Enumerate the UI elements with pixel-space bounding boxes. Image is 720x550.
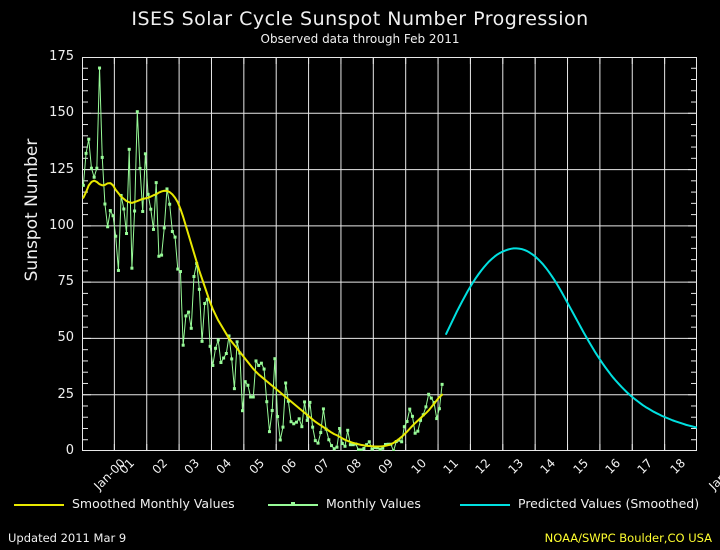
data-point xyxy=(263,368,266,371)
data-point xyxy=(362,447,365,450)
page-title: ISES Solar Cycle Sunspot Number Progress… xyxy=(0,8,720,30)
data-point xyxy=(249,395,252,398)
data-point xyxy=(435,417,438,420)
x-tick-label: 13 xyxy=(505,456,526,477)
data-point xyxy=(273,357,276,360)
legend-marker-icon xyxy=(291,502,295,506)
series-line xyxy=(83,181,442,447)
data-point xyxy=(246,384,249,387)
data-point xyxy=(438,407,441,410)
sunspot-chart-svg xyxy=(82,57,697,451)
data-point xyxy=(160,254,163,257)
data-point xyxy=(198,288,201,291)
data-point xyxy=(106,225,109,228)
data-point xyxy=(203,302,206,305)
y-tick-label: 125 xyxy=(34,162,74,177)
data-point xyxy=(114,235,117,238)
x-tick-label: 05 xyxy=(246,456,267,477)
data-point xyxy=(303,400,306,403)
x-tick-label: 09 xyxy=(376,456,397,477)
series-predicted-values-smoothed xyxy=(446,248,697,433)
chart-subtitle: Observed data through Feb 2011 xyxy=(0,32,720,46)
x-tick-label: 02 xyxy=(149,456,170,477)
data-point xyxy=(244,380,247,383)
data-point xyxy=(192,275,195,278)
data-point xyxy=(284,382,287,385)
data-point xyxy=(260,362,263,365)
data-point xyxy=(174,236,177,239)
data-point xyxy=(236,340,239,343)
plot-area xyxy=(82,57,697,451)
source-text: NOAA/SWPC Boulder,CO USA xyxy=(545,531,712,545)
data-point xyxy=(128,148,131,151)
x-tick-label: 08 xyxy=(343,456,364,477)
data-point xyxy=(98,67,101,70)
data-point xyxy=(335,446,338,449)
data-point xyxy=(441,383,444,386)
data-point xyxy=(225,352,228,355)
x-tick-label: 04 xyxy=(214,456,235,477)
data-point xyxy=(279,438,282,441)
data-point xyxy=(122,207,125,210)
data-point xyxy=(392,450,395,452)
data-point xyxy=(82,184,85,187)
data-point xyxy=(230,357,233,360)
data-point xyxy=(281,426,284,429)
data-point xyxy=(201,340,204,343)
data-point xyxy=(136,110,139,113)
data-point xyxy=(182,344,185,347)
y-tick-label: 75 xyxy=(34,274,74,289)
y-tick-label: 100 xyxy=(34,218,74,233)
data-point xyxy=(317,442,320,445)
data-point xyxy=(152,228,155,231)
x-tick-label: 16 xyxy=(602,456,623,477)
data-point xyxy=(346,429,349,432)
updated-text: Updated 2011 Mar 9 xyxy=(8,531,126,545)
data-point xyxy=(292,422,295,425)
series-monthly-values xyxy=(82,67,444,451)
data-point xyxy=(416,430,419,433)
legend-label: Smoothed Monthly Values xyxy=(72,496,235,511)
data-point xyxy=(357,448,360,451)
data-point xyxy=(427,393,430,396)
data-point xyxy=(368,440,371,443)
data-point xyxy=(341,442,344,445)
data-point xyxy=(295,421,298,424)
y-tick-label: 150 xyxy=(34,105,74,120)
y-tick-label: 50 xyxy=(34,330,74,345)
data-point xyxy=(147,193,150,196)
data-point xyxy=(112,214,115,217)
y-tick-label: 0 xyxy=(34,443,74,458)
data-point xyxy=(411,415,414,418)
data-point xyxy=(157,255,160,258)
data-point xyxy=(90,167,93,170)
data-point xyxy=(179,270,182,273)
data-point xyxy=(187,311,190,314)
x-tick-label: 06 xyxy=(279,456,300,477)
data-point xyxy=(322,407,325,410)
data-point xyxy=(125,232,128,235)
data-point xyxy=(219,361,222,364)
data-point xyxy=(222,357,225,360)
data-point xyxy=(117,269,120,272)
data-point xyxy=(360,448,363,451)
x-tick-label: Jan-19 xyxy=(706,456,720,493)
chart-page: ISES Solar Cycle Sunspot Number Progress… xyxy=(0,0,720,550)
legend-label: Monthly Values xyxy=(326,496,421,511)
x-tick-label: 03 xyxy=(182,456,203,477)
data-point xyxy=(257,364,260,367)
data-point xyxy=(403,425,406,428)
legend-swatch xyxy=(14,504,64,506)
data-point xyxy=(268,430,271,433)
data-point xyxy=(424,405,427,408)
x-tick-label: 10 xyxy=(408,456,429,477)
data-point xyxy=(306,419,309,422)
data-point xyxy=(211,364,214,367)
data-point xyxy=(333,447,336,450)
plot-frame xyxy=(83,58,697,451)
data-point xyxy=(330,444,333,447)
data-point xyxy=(290,420,293,423)
data-point xyxy=(163,226,166,229)
y-tick-label: 175 xyxy=(34,49,74,64)
data-point xyxy=(168,203,171,206)
data-point xyxy=(209,345,212,348)
data-point xyxy=(338,427,341,430)
data-point xyxy=(87,138,90,141)
chart-legend: Smoothed Monthly ValuesMonthly ValuesPre… xyxy=(0,496,720,518)
data-point xyxy=(241,409,244,412)
data-point xyxy=(344,445,347,448)
series-line xyxy=(83,68,442,451)
x-tick-label: 07 xyxy=(311,456,332,477)
data-point xyxy=(85,152,88,155)
data-point xyxy=(144,152,147,155)
series-line xyxy=(446,248,697,433)
data-point xyxy=(308,401,311,404)
gridlines xyxy=(82,57,697,451)
data-point xyxy=(101,156,104,159)
data-point xyxy=(141,210,144,213)
data-point xyxy=(311,426,314,429)
data-point xyxy=(252,395,255,398)
data-point xyxy=(430,397,433,400)
data-point xyxy=(214,347,217,350)
data-point xyxy=(298,417,301,420)
data-point xyxy=(400,440,403,443)
data-point xyxy=(379,448,382,451)
data-point xyxy=(149,208,152,211)
y-tick-label: 25 xyxy=(34,387,74,402)
data-point xyxy=(300,425,303,428)
data-point xyxy=(319,431,322,434)
data-point xyxy=(184,314,187,317)
x-tick-label: 18 xyxy=(667,456,688,477)
x-tick-label: 15 xyxy=(570,456,591,477)
axis-ticks xyxy=(82,57,697,451)
data-point xyxy=(190,327,193,330)
x-tick-label: 11 xyxy=(441,456,462,477)
data-point xyxy=(327,438,330,441)
data-point xyxy=(408,408,411,411)
data-point xyxy=(217,339,220,342)
data-point xyxy=(254,359,257,362)
x-tick-label: 17 xyxy=(635,456,656,477)
legend-swatch xyxy=(460,504,510,506)
data-point xyxy=(233,387,236,390)
data-point xyxy=(133,210,136,213)
data-point xyxy=(93,176,96,179)
data-point xyxy=(171,230,174,233)
series-smoothed-monthly-values xyxy=(83,181,442,447)
data-point xyxy=(271,409,274,412)
data-point xyxy=(314,439,317,442)
data-point xyxy=(103,203,106,206)
x-tick-label: 14 xyxy=(538,456,559,477)
data-point xyxy=(109,209,112,212)
data-point xyxy=(265,400,268,403)
y-axis-label: Sunspot Number xyxy=(22,85,42,335)
data-point xyxy=(95,167,98,170)
data-point xyxy=(349,443,352,446)
data-point xyxy=(176,268,179,271)
data-point xyxy=(130,267,133,270)
data-point xyxy=(370,448,373,451)
data-point xyxy=(139,167,142,170)
data-point xyxy=(414,432,417,435)
data-point xyxy=(406,420,409,423)
x-tick-label: 12 xyxy=(473,456,494,477)
data-point xyxy=(276,415,279,418)
data-point xyxy=(155,181,158,184)
legend-label: Predicted Values (Smoothed) xyxy=(518,496,699,511)
